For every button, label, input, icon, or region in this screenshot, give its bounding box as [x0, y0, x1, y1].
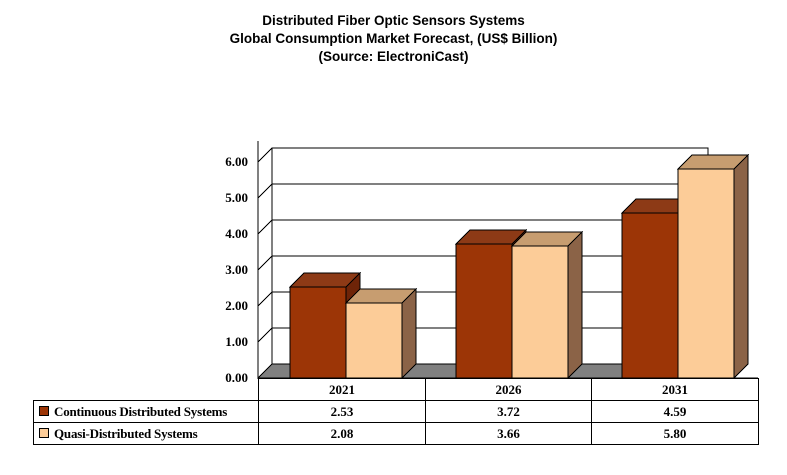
legend-swatch-icon-quasi: [39, 428, 49, 438]
table-header-year-1: 2026: [426, 379, 592, 401]
legend-label-quasi: Quasi-Distributed Systems: [54, 426, 197, 441]
table-row: Continuous Distributed Systems 2.53 3.72…: [34, 401, 759, 423]
table-header-year-2: 2031: [592, 379, 759, 401]
legend-swatch-icon-continuous: [39, 406, 49, 416]
table-cell-quasi-2031: 5.80: [592, 423, 759, 445]
table-cell-continuous-2021: 2.53: [259, 401, 426, 423]
table-header-year-0: 2021: [259, 379, 426, 401]
y-tick-label-4: 4.00: [196, 227, 248, 240]
bar-2026-quasi: [512, 232, 582, 378]
y-tick-label-1: 1.00: [196, 335, 248, 348]
y-tick-label-3: 3.00: [196, 263, 248, 276]
data-table: 2021 2026 2031 Continuous Distributed Sy…: [33, 378, 759, 445]
table-row: Quasi-Distributed Systems 2.08 3.66 5.80: [34, 423, 759, 445]
table-header-row: 2021 2026 2031: [34, 379, 759, 401]
y-axis-ticks: [258, 148, 272, 378]
y-tick-label-6: 6.00: [196, 155, 248, 168]
table-cell-continuous-2031: 4.59: [592, 401, 759, 423]
table-corner-cell: [34, 379, 259, 401]
chart-container: Distributed Fiber Optic Sensors Systems …: [0, 0, 787, 475]
y-tick-label-5: 5.00: [196, 191, 248, 204]
y-tick-label-2: 2.00: [196, 299, 248, 312]
table-cell-quasi-2026: 3.66: [426, 423, 592, 445]
legend-label-continuous: Continuous Distributed Systems: [54, 404, 227, 419]
legend-item-quasi: Quasi-Distributed Systems: [34, 423, 259, 445]
table-cell-continuous-2026: 3.72: [426, 401, 592, 423]
bar-2021-quasi: [346, 289, 416, 378]
table-cell-quasi-2021: 2.08: [259, 423, 426, 445]
legend-item-continuous: Continuous Distributed Systems: [34, 401, 259, 423]
bar-2031-quasi: [678, 155, 748, 378]
